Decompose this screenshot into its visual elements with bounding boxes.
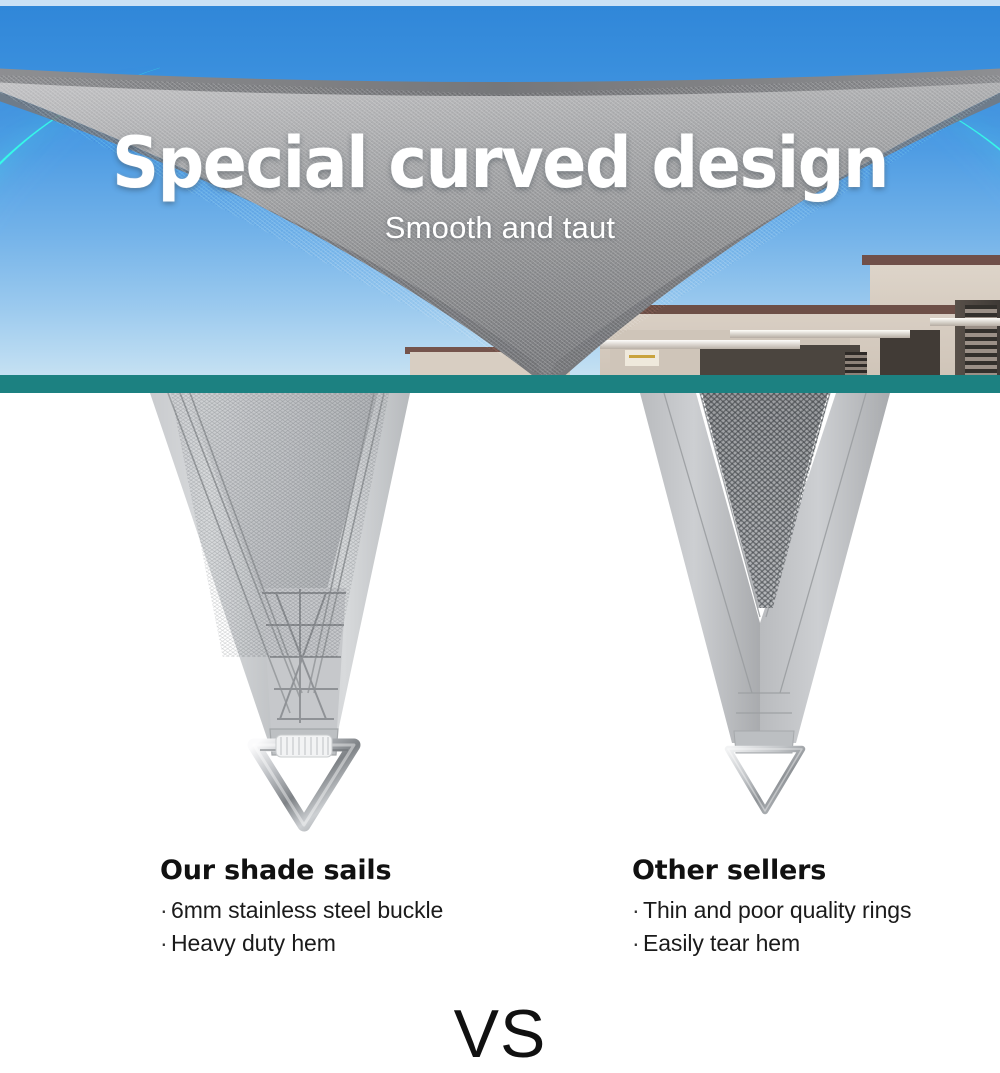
our-shade-sails-bullets: ·6mm stainless steel buckle ·Heavy duty … — [160, 894, 443, 959]
other-sellers-bullets: ·Thin and poor quality rings ·Easily tea… — [632, 894, 911, 959]
product-feature-image: Special curved design Smooth and taut — [0, 0, 1000, 1000]
bullet-text: 6mm stainless steel buckle — [171, 897, 443, 923]
bullet-text: Thin and poor quality rings — [643, 897, 911, 923]
bullet-dot-icon: · — [632, 894, 643, 927]
hero-title: Special curved design — [35, 122, 965, 204]
our-sail-corner-photo — [150, 393, 410, 833]
list-item: ·Thin and poor quality rings — [632, 894, 911, 927]
other-sail-corner-photo — [640, 393, 890, 833]
bullet-dot-icon: · — [160, 927, 171, 960]
bullet-text: Heavy duty hem — [171, 930, 336, 956]
top-white-margin — [0, 0, 1000, 6]
other-sellers-heading: Other sellers — [632, 855, 911, 886]
list-item: ·Easily tear hem — [632, 927, 911, 960]
bullet-dot-icon: · — [632, 927, 643, 960]
comparison-section: VS Our shade sails ·6mm stainless steel … — [0, 393, 1000, 1000]
bullet-dot-icon: · — [160, 894, 171, 927]
our-shade-sails-heading: Our shade sails — [160, 855, 443, 886]
our-shade-sails-caption: Our shade sails ·6mm stainless steel buc… — [160, 855, 443, 959]
list-item: ·Heavy duty hem — [160, 927, 443, 960]
bullet-text: Easily tear hem — [643, 930, 800, 956]
vs-label: VS — [0, 995, 1000, 1073]
hero-photo: Special curved design Smooth and taut — [0, 0, 1000, 392]
teal-divider-bar — [0, 375, 1000, 393]
other-sellers-caption: Other sellers ·Thin and poor quality rin… — [632, 855, 911, 959]
list-item: ·6mm stainless steel buckle — [160, 894, 443, 927]
hero-subtitle: Smooth and taut — [0, 210, 1000, 246]
